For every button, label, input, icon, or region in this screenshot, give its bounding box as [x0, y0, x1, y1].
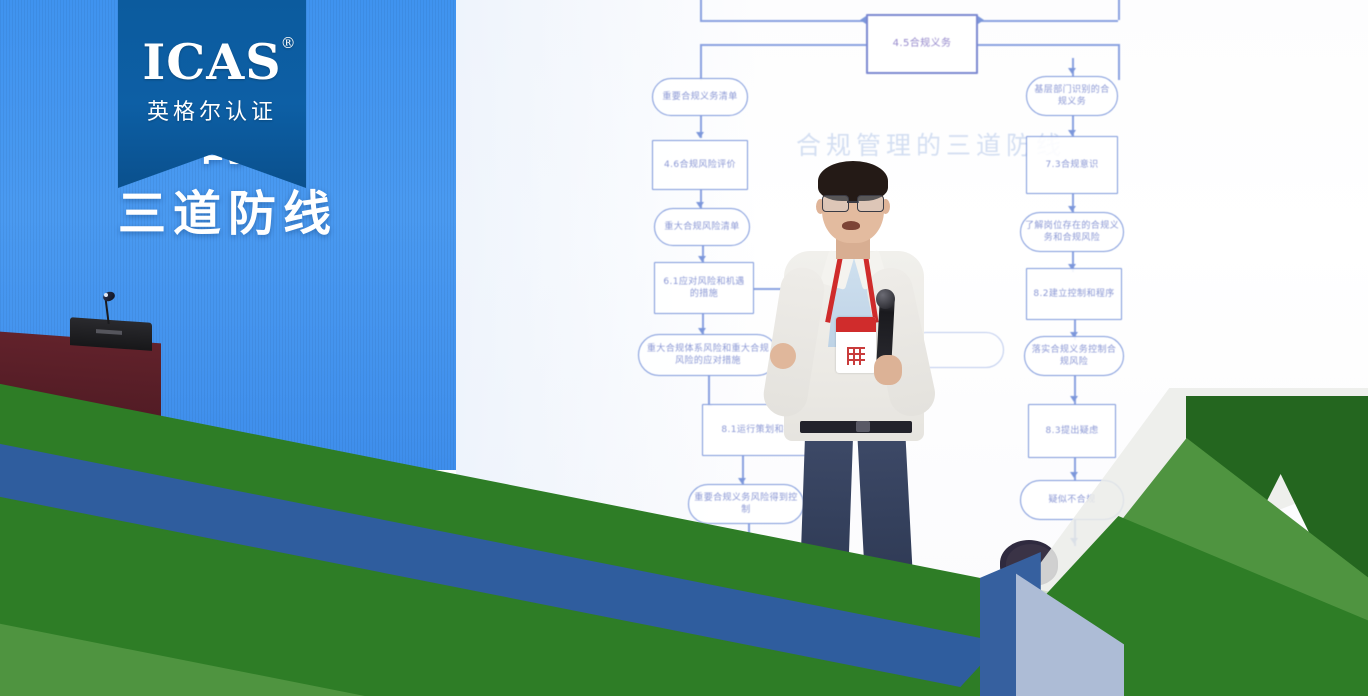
flow-node-department-obligations: 基层部门识别的合规义务	[1026, 76, 1118, 116]
speaker-leg-right	[857, 426, 915, 620]
flow-arrow	[1070, 538, 1078, 544]
flow-edge	[978, 20, 1118, 22]
flow-edge	[748, 542, 770, 544]
flow-node-suspected-noncompliance: 疑似不合规	[1020, 480, 1124, 520]
speaker-leg-left	[799, 426, 854, 620]
flow-arrow	[860, 16, 866, 24]
flow-arrow	[1070, 396, 1078, 402]
flow-edge	[1118, 44, 1120, 80]
flow-edge	[978, 44, 1118, 46]
attendee-badge	[836, 317, 876, 373]
flow-node-83: 8.3提出疑虑	[1028, 404, 1116, 458]
flow-node-implement-controls: 落实合规义务控制合规风险	[1024, 336, 1124, 376]
screenshot-root: 合规管理的三道防线 4.5合规义务 重要合规义务清单 4.6合规风险评价 重大合…	[0, 0, 1368, 696]
flow-node-important-obligations-list: 重要合规义务清单	[652, 78, 748, 116]
microphone-highlight	[104, 293, 108, 297]
flow-node-major-risk-list: 重大合规风险清单	[654, 208, 750, 246]
flow-edge	[748, 524, 750, 542]
flow-node-73: 7.3合规意识	[1026, 136, 1118, 194]
flow-arrow	[696, 132, 704, 138]
flow-arrow	[1068, 68, 1076, 74]
audience-head	[640, 536, 702, 584]
flow-arrow	[1070, 472, 1078, 478]
microphone-icon	[876, 289, 895, 309]
flow-node-45: 4.5合规义务	[866, 14, 978, 74]
flow-node-major-response-measures: 重大合规体系风险和重大合规风险的应对措施	[638, 334, 778, 376]
flow-node-61: 6.1应对风险和机遇的措施	[654, 262, 754, 314]
flow-edge	[1118, 0, 1120, 20]
icas-chinese-name: 英格尔认证	[147, 94, 277, 126]
speaker	[770, 155, 980, 615]
flow-node-46: 4.6合规风险评价	[652, 140, 748, 190]
qr-code-icon	[847, 347, 865, 365]
speaker-mouth	[842, 221, 860, 230]
icas-wordmark-text: ICAS	[142, 33, 281, 91]
flow-edge	[700, 44, 702, 80]
flow-edge	[708, 376, 710, 404]
badge-header-band	[836, 317, 876, 332]
speaker-hand-right	[874, 355, 902, 385]
flow-edge	[700, 44, 866, 46]
flow-edge	[700, 20, 866, 22]
speaker-legs	[800, 427, 912, 619]
icas-wordmark: ICAS ®	[142, 38, 281, 87]
banner-line-2: 三道防线	[0, 188, 456, 242]
audience-head	[1006, 544, 1056, 584]
flow-arrow	[978, 16, 984, 24]
flow-edge	[700, 0, 702, 20]
flow-node-position-awareness: 了解岗位存在的合规义务和合规风险	[1020, 212, 1124, 252]
registered-trademark-icon: ®	[281, 36, 297, 51]
glasses-lens-right	[857, 195, 884, 212]
speaker-hand-left	[770, 343, 796, 369]
glasses-icon	[822, 195, 884, 210]
flow-node-82: 8.2建立控制和程序	[1026, 268, 1122, 320]
speaker-belt-buckle	[856, 421, 870, 432]
glasses-lens-left	[822, 195, 849, 212]
